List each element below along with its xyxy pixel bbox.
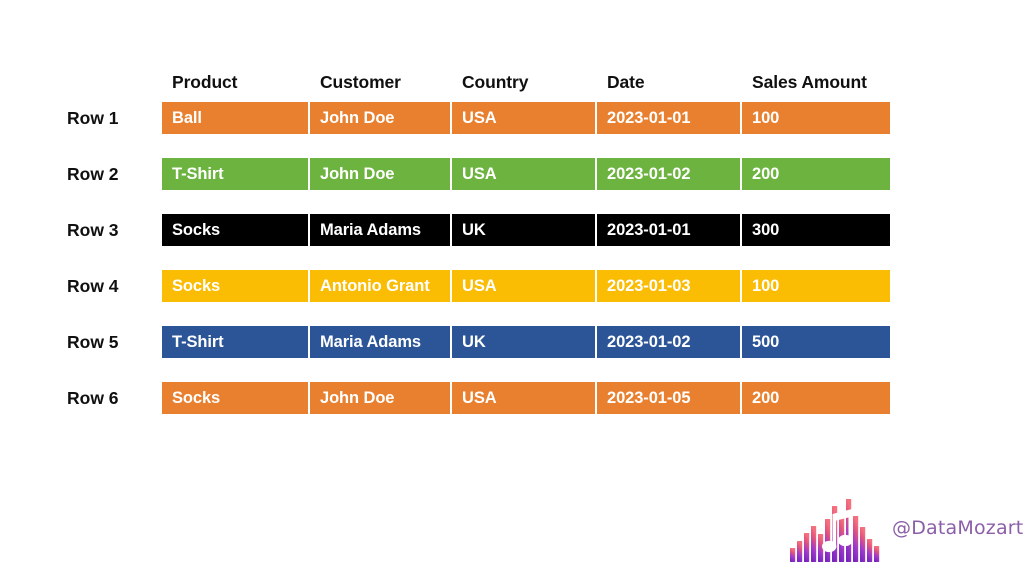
- row-label-6: Row 6: [60, 382, 150, 414]
- table-row: Row 4 Socks Antonio Grant USA 2023-01-03…: [60, 270, 890, 302]
- cell-sales-amount: 500: [742, 326, 890, 358]
- table-row: Row 3 Socks Maria Adams UK 2023-01-01 30…: [60, 214, 890, 246]
- row-label-3: Row 3: [60, 214, 150, 246]
- cell-country: USA: [452, 158, 597, 190]
- cell-customer: John Doe: [310, 158, 452, 190]
- row-gutter-2: [150, 158, 162, 190]
- cell-sales-amount: 300: [742, 214, 890, 246]
- row-label-5: Row 5: [60, 326, 150, 358]
- cell-date: 2023-01-03: [597, 270, 742, 302]
- row-gutter-3: [150, 214, 162, 246]
- cell-sales-amount: 200: [742, 382, 890, 414]
- equalizer-music-note-logo: [788, 494, 880, 562]
- branding-block: @DataMozart: [788, 494, 1023, 562]
- handle-text: @DataMozart: [892, 517, 1023, 539]
- cell-sales-amount: 200: [742, 158, 890, 190]
- cell-date: 2023-01-01: [597, 102, 742, 134]
- cell-sales-amount: 100: [742, 102, 890, 134]
- table-row: Row 5 T-Shirt Maria Adams UK 2023-01-02 …: [60, 326, 890, 358]
- cell-date: 2023-01-02: [597, 158, 742, 190]
- table-row: Row 2 T-Shirt John Doe USA 2023-01-02 20…: [60, 158, 890, 190]
- cell-product: Socks: [162, 214, 310, 246]
- cell-date: 2023-01-01: [597, 214, 742, 246]
- cell-customer: John Doe: [310, 102, 452, 134]
- row-gutter-1: [150, 102, 162, 134]
- row-gutter-4: [150, 270, 162, 302]
- cell-customer: Maria Adams: [310, 326, 452, 358]
- table-row: Row 1 Ball John Doe USA 2023-01-01 100: [60, 102, 890, 134]
- cell-country: USA: [452, 270, 597, 302]
- column-header-sales-amount: Sales Amount: [742, 62, 890, 102]
- cell-country: USA: [452, 382, 597, 414]
- row-gutter-6: [150, 382, 162, 414]
- cell-date: 2023-01-05: [597, 382, 742, 414]
- column-header-country: Country: [452, 62, 597, 102]
- cell-customer: John Doe: [310, 382, 452, 414]
- column-header-product: Product: [162, 62, 310, 102]
- cell-product: Ball: [162, 102, 310, 134]
- row-label-2: Row 2: [60, 158, 150, 190]
- header-gutter: [150, 62, 162, 102]
- header-rowlabel-blank: [60, 62, 150, 102]
- cell-customer: Maria Adams: [310, 214, 452, 246]
- column-header-customer: Customer: [310, 62, 452, 102]
- row-label-4: Row 4: [60, 270, 150, 302]
- cell-country: UK: [452, 326, 597, 358]
- slide-canvas: Product Customer Country Date Sales Amou…: [0, 0, 1024, 576]
- cell-date: 2023-01-02: [597, 326, 742, 358]
- cell-product: T-Shirt: [162, 326, 310, 358]
- cell-country: USA: [452, 102, 597, 134]
- column-header-date: Date: [597, 62, 742, 102]
- table-header-row: Product Customer Country Date Sales Amou…: [60, 62, 890, 102]
- row-gutter-5: [150, 326, 162, 358]
- cell-customer: Antonio Grant: [310, 270, 452, 302]
- cell-country: UK: [452, 214, 597, 246]
- cell-product: Socks: [162, 270, 310, 302]
- cell-sales-amount: 100: [742, 270, 890, 302]
- sales-data-table: Product Customer Country Date Sales Amou…: [60, 62, 890, 414]
- row-label-1: Row 1: [60, 102, 150, 134]
- cell-product: Socks: [162, 382, 310, 414]
- cell-product: T-Shirt: [162, 158, 310, 190]
- table-row: Row 6 Socks John Doe USA 2023-01-05 200: [60, 382, 890, 414]
